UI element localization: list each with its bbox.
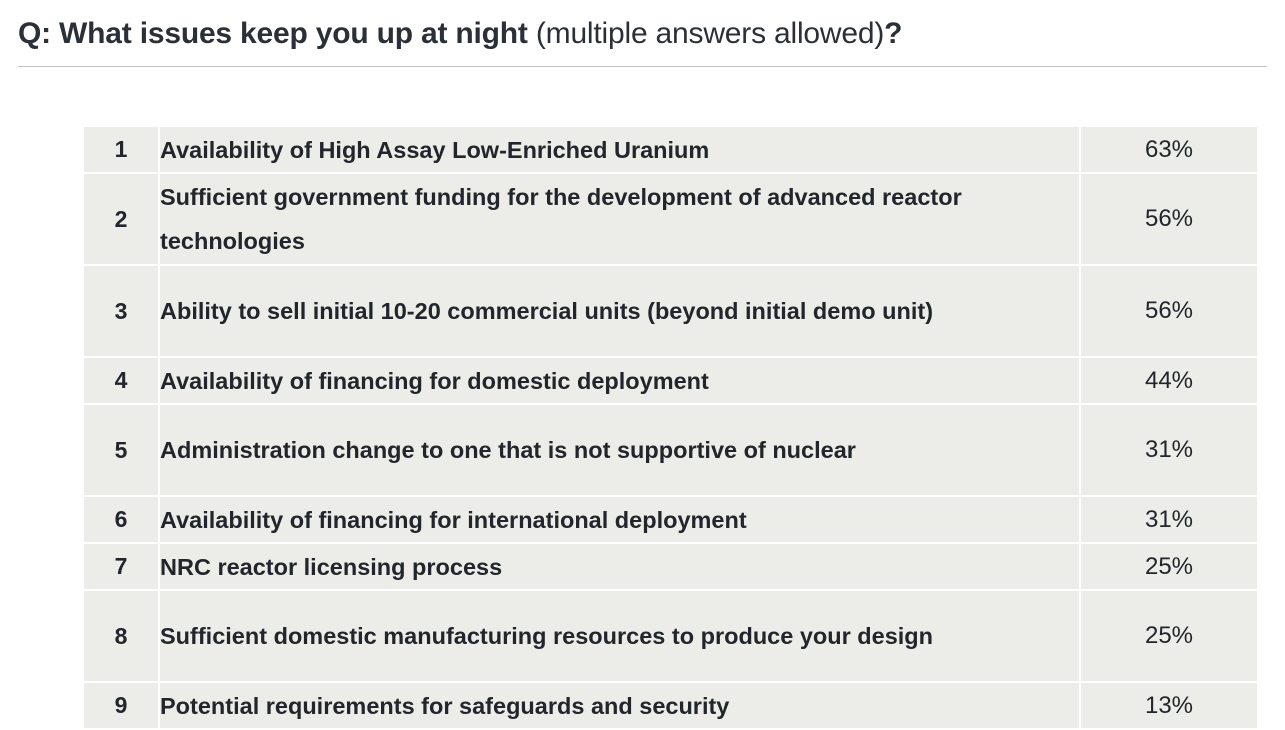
row-percent-value: 25% — [1081, 591, 1257, 681]
row-percent-value: 31% — [1081, 497, 1257, 542]
page-title-lead: Q: What issues keep you up at night — [18, 17, 536, 50]
results-table-body: 1Availability of High Assay Low-Enriched… — [84, 127, 1257, 728]
table-row: 8Sufficient domestic manufacturing resou… — [84, 591, 1257, 681]
table-row: 5Administration change to one that is no… — [84, 405, 1257, 495]
row-rank: 2 — [84, 174, 158, 264]
row-issue-label: Availability of financing for domestic d… — [160, 358, 1079, 403]
row-rank: 8 — [84, 591, 158, 681]
results-table: 1Availability of High Assay Low-Enriched… — [82, 125, 1259, 730]
title-divider — [18, 66, 1267, 67]
page-title-qualifier: (multiple answers allowed) — [536, 17, 884, 50]
row-issue-label: Sufficient domestic manufacturing resour… — [160, 591, 1079, 681]
row-rank: 9 — [84, 683, 158, 728]
row-issue-label: Potential requirements for safeguards an… — [160, 683, 1079, 728]
results-table-wrap: 1Availability of High Assay Low-Enriched… — [0, 125, 1285, 730]
row-percent-value: 56% — [1081, 174, 1257, 264]
row-rank: 5 — [84, 405, 158, 495]
row-issue-label: Ability to sell initial 10-20 commercial… — [160, 266, 1079, 356]
table-row: 6Availability of financing for internati… — [84, 497, 1257, 542]
table-row: 9Potential requirements for safeguards a… — [84, 683, 1257, 728]
row-rank: 1 — [84, 127, 158, 172]
table-row: 3Ability to sell initial 10-20 commercia… — [84, 266, 1257, 356]
table-row: 1Availability of High Assay Low-Enriched… — [84, 127, 1257, 172]
page-title: Q: What issues keep you up at night (mul… — [18, 16, 1267, 52]
row-percent-value: 31% — [1081, 405, 1257, 495]
slide-header: Q: What issues keep you up at night (mul… — [0, 0, 1285, 52]
row-rank: 4 — [84, 358, 158, 403]
row-issue-label: Administration change to one that is not… — [160, 405, 1079, 495]
row-percent-value: 56% — [1081, 266, 1257, 356]
page-title-questionmark: ? — [884, 17, 902, 50]
row-issue-label: Availability of High Assay Low-Enriched … — [160, 127, 1079, 172]
row-percent-value: 63% — [1081, 127, 1257, 172]
table-row: 2Sufficient government funding for the d… — [84, 174, 1257, 264]
table-row: 4Availability of financing for domestic … — [84, 358, 1257, 403]
table-row: 7NRC reactor licensing process25% — [84, 544, 1257, 589]
row-rank: 7 — [84, 544, 158, 589]
row-issue-label: Sufficient government funding for the de… — [160, 174, 1079, 264]
row-rank: 3 — [84, 266, 158, 356]
row-issue-label: Availability of financing for internatio… — [160, 497, 1079, 542]
row-percent-value: 44% — [1081, 358, 1257, 403]
row-issue-label: NRC reactor licensing process — [160, 544, 1079, 589]
row-percent-value: 13% — [1081, 683, 1257, 728]
row-rank: 6 — [84, 497, 158, 542]
row-percent-value: 25% — [1081, 544, 1257, 589]
